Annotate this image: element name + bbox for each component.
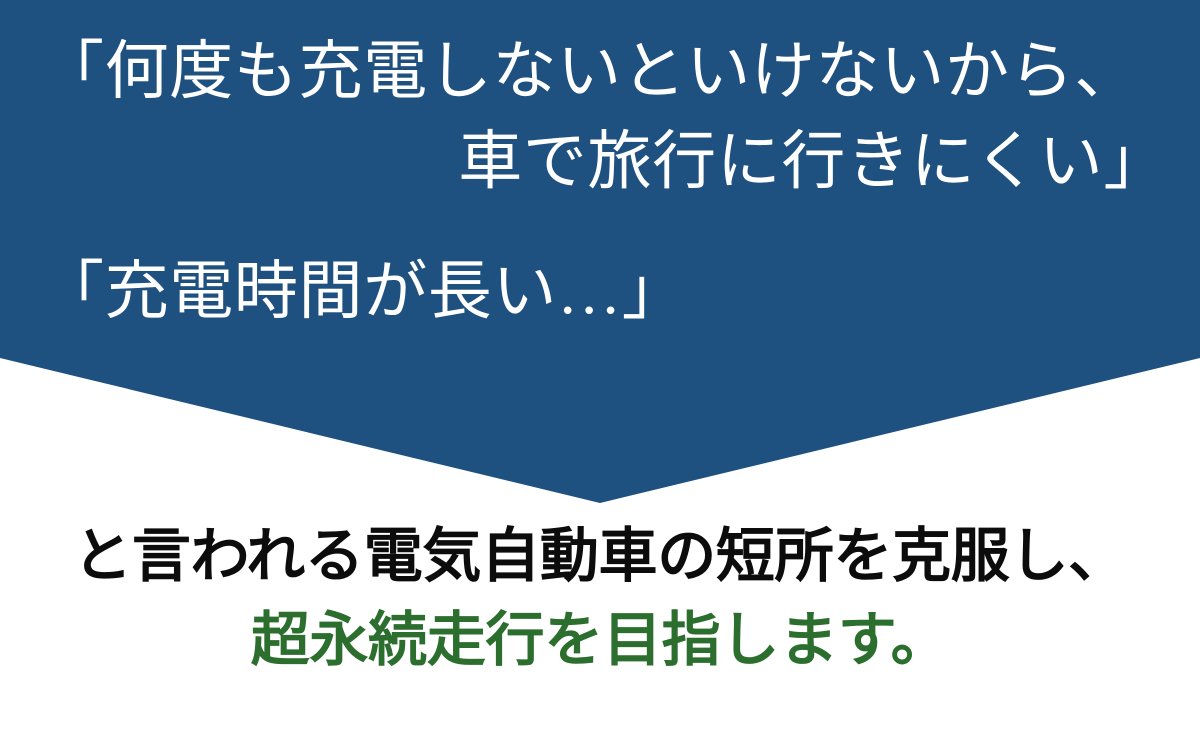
promo-slide: 「何度も充電しないといけないから、 車で旅行に行きにくい」 「充電時間が長い…」… (0, 0, 1200, 742)
quote-line-3: 「充電時間が長い…」 (40, 250, 686, 334)
statement-line-green: 超永続走行を目指します。 (0, 604, 1200, 676)
statement-block: と言われる電気自動車の短所を克服し、 超永続走行を目指します。 (0, 520, 1200, 676)
quote-line-2: 車で旅行に行きにくい」 (458, 120, 1168, 204)
quote-line-1: 「何度も充電しないといけないから、 (40, 30, 1139, 114)
statement-line-black: と言われる電気自動車の短所を克服し、 (0, 520, 1200, 592)
